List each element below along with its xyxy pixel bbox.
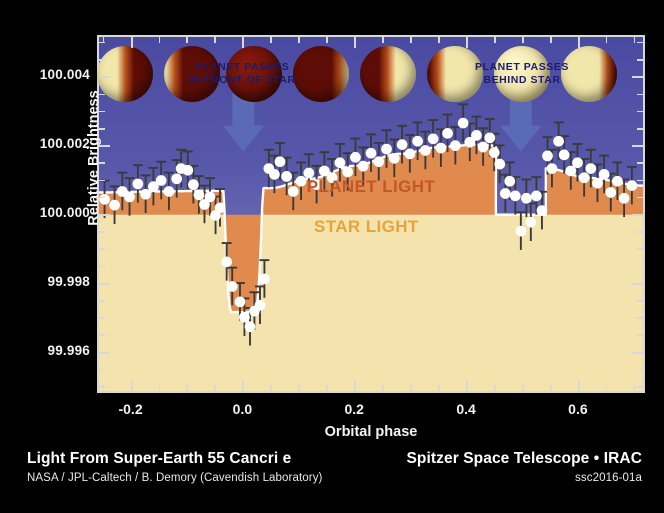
axis-tick xyxy=(103,385,105,391)
axis-tick xyxy=(637,94,643,96)
axis-tick xyxy=(99,369,105,371)
axis-tick xyxy=(99,76,110,78)
x-axis-label: Orbital phase xyxy=(97,424,645,440)
axis-tick xyxy=(214,37,216,43)
axis-tick xyxy=(637,111,643,113)
axis-tick xyxy=(494,37,496,43)
axis-tick xyxy=(159,385,161,391)
y-axis-label: Relative Brightness xyxy=(86,58,102,258)
axis-tick xyxy=(438,385,440,391)
axis-tick xyxy=(550,385,552,391)
axis-tick xyxy=(382,385,384,391)
axis-tick xyxy=(382,37,384,43)
axis-tick xyxy=(99,231,105,233)
chart-canvas: 100.004100.002100.00099.99899.996 -0.20.… xyxy=(0,0,664,513)
axis-tick xyxy=(634,385,636,391)
figure-title: Light From Super-Earth 55 Cancri e xyxy=(27,450,322,468)
axis-tick xyxy=(637,42,643,44)
axis-tick xyxy=(99,317,105,319)
instrument-label: Spitzer Space Telescope • IRAC xyxy=(406,450,642,468)
axis-tick xyxy=(99,266,105,268)
axis-tick xyxy=(159,37,161,43)
axis-tick xyxy=(637,266,643,268)
y-tick-label: 99.998 xyxy=(2,274,90,289)
axis-tick xyxy=(410,37,412,43)
phase-sphere xyxy=(97,46,153,102)
axis-tick xyxy=(606,385,608,391)
axis-tick xyxy=(606,37,608,43)
axis-tick xyxy=(103,37,105,43)
axis-tick xyxy=(637,231,643,233)
figure-credit: NASA / JPL-Caltech / B. Demory (Cavendis… xyxy=(27,472,322,484)
axis-tick xyxy=(326,37,328,43)
axis-tick xyxy=(99,334,105,336)
axis-tick xyxy=(550,37,552,43)
eclipse-annotation-line2: BEHIND STAR xyxy=(432,74,612,87)
eclipse-annotation-line1: PLANET PASSES xyxy=(432,61,612,74)
axis-tick xyxy=(637,369,643,371)
axis-tick xyxy=(99,300,105,302)
axis-tick xyxy=(270,385,272,391)
axis-tick xyxy=(242,380,244,391)
axis-tick xyxy=(578,37,580,48)
x-tick-label: 0.0 xyxy=(212,401,272,417)
axis-tick xyxy=(578,380,580,391)
axis-tick xyxy=(99,180,105,182)
axis-tick xyxy=(410,385,412,391)
axis-tick xyxy=(131,37,133,48)
phase-sphere xyxy=(360,46,416,102)
axis-tick xyxy=(632,352,643,354)
axis-tick xyxy=(242,37,244,48)
y-axis: 100.004100.002100.00099.99899.996 xyxy=(0,0,90,513)
axis-tick xyxy=(99,248,105,250)
axis-tick xyxy=(632,283,643,285)
axis-tick xyxy=(99,352,110,354)
axis-tick xyxy=(494,385,496,391)
axis-tick xyxy=(637,162,643,164)
x-tick-label: 0.2 xyxy=(324,401,384,417)
axis-tick xyxy=(99,197,105,199)
axis-tick xyxy=(637,317,643,319)
y-tick-label: 100.002 xyxy=(2,136,90,151)
axis-tick xyxy=(637,300,643,302)
caption-right: Spitzer Space Telescope • IRAC ssc2016-0… xyxy=(406,450,642,484)
axis-tick xyxy=(186,385,188,391)
axis-tick xyxy=(131,380,133,391)
axis-tick xyxy=(632,76,643,78)
axis-tick xyxy=(637,386,643,388)
x-tick-label: 0.6 xyxy=(548,401,608,417)
axis-tick xyxy=(326,385,328,391)
x-tick-label: 0.4 xyxy=(436,401,496,417)
y-tick-label: 100.000 xyxy=(2,205,90,220)
axis-tick xyxy=(354,380,356,391)
axis-tick xyxy=(632,145,643,147)
transit-annotation-line1: PLANET PASSES xyxy=(152,61,332,74)
y-tick-label: 100.004 xyxy=(2,67,90,82)
axis-tick xyxy=(99,111,105,113)
star-light-band-label: STAR LIGHT xyxy=(314,217,419,237)
eclipse-annotation: PLANET PASSES BEHIND STAR xyxy=(432,61,612,87)
release-id: ssc2016-01a xyxy=(406,472,642,484)
axis-tick xyxy=(634,37,636,43)
axis-tick xyxy=(637,197,643,199)
axis-tick xyxy=(637,248,643,250)
axis-tick xyxy=(99,214,110,216)
axis-tick xyxy=(99,59,105,61)
axis-tick xyxy=(186,37,188,43)
axis-tick xyxy=(522,385,524,391)
axis-tick xyxy=(637,59,643,61)
axis-tick xyxy=(637,180,643,182)
y-tick-label: 99.996 xyxy=(2,343,90,358)
axis-tick xyxy=(637,334,643,336)
axis-tick xyxy=(637,128,643,130)
x-tick-label: -0.2 xyxy=(101,401,161,417)
axis-tick xyxy=(99,283,110,285)
caption-left: Light From Super-Earth 55 Cancri e NASA … xyxy=(27,450,322,484)
axis-tick xyxy=(214,385,216,391)
transit-annotation: PLANET PASSES IN FRONT OF STAR xyxy=(152,61,332,87)
axis-tick xyxy=(99,162,105,164)
axis-tick xyxy=(354,37,356,48)
axis-tick xyxy=(99,145,110,147)
axis-tick xyxy=(466,380,468,391)
planet-light-band-label: PLANET LIGHT xyxy=(307,177,436,197)
axis-tick xyxy=(466,37,468,48)
axis-tick xyxy=(438,37,440,43)
axis-tick xyxy=(632,214,643,216)
axis-tick xyxy=(522,37,524,43)
axis-tick xyxy=(99,128,105,130)
axis-tick xyxy=(99,94,105,96)
axis-tick xyxy=(298,37,300,43)
axis-tick xyxy=(298,385,300,391)
transit-annotation-line2: IN FRONT OF STAR xyxy=(152,74,332,87)
axis-tick xyxy=(270,37,272,43)
